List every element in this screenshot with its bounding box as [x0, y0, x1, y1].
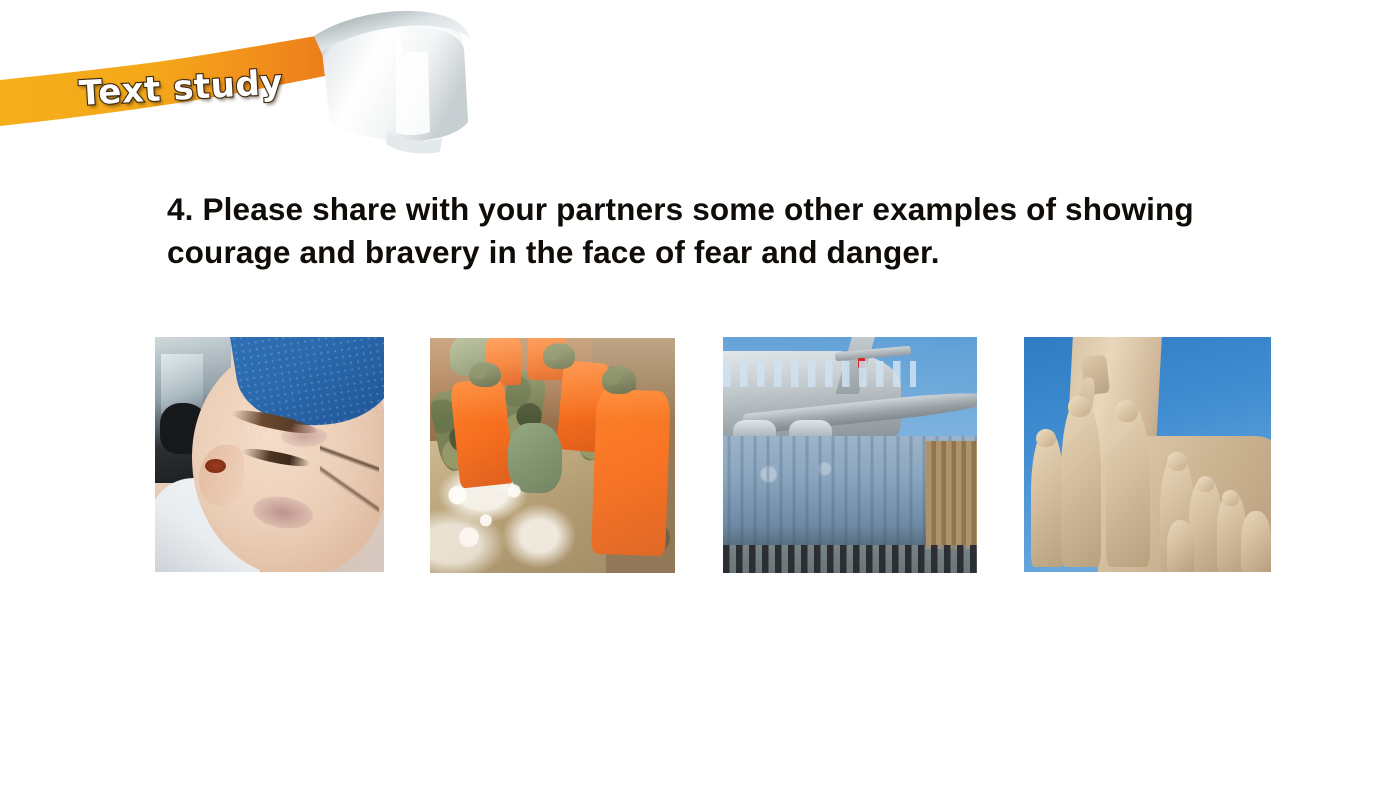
photo-injured-medical-worker[interactable]: Close-up of a medical worker's face mark… [155, 337, 384, 572]
photo-troops-scene [723, 337, 977, 573]
troops-face-masks [723, 361, 916, 387]
monument-head-6 [1222, 490, 1239, 506]
monument-figure-1 [1031, 431, 1063, 567]
photo-flood-rescue-soldiers[interactable]: Soldiers in camouflage uniforms and oran… [430, 338, 675, 573]
troops-khaki-column [926, 441, 977, 550]
scroll-roll-body [322, 27, 468, 141]
header-banner: Text study [0, 0, 500, 160]
monument-head-2 [1068, 396, 1090, 417]
question-block: 4. Please share with your partners some … [167, 188, 1297, 274]
photo-monument-scene [1024, 337, 1271, 572]
photo-flood-scene [430, 338, 675, 573]
monument-head-3 [1115, 400, 1137, 421]
monument-figure-3 [1106, 403, 1150, 568]
photo-troops-by-aircraft[interactable]: Rows of military medical personnel in bl… [723, 337, 977, 573]
monument-head-5 [1197, 476, 1214, 492]
photo-heroes-monument[interactable]: Heroic stone monument sculpture of soldi… [1024, 337, 1271, 572]
flood-warm-haze-overlay [430, 338, 675, 573]
question-text: 4. Please share with your partners some … [167, 188, 1297, 274]
medic-stray-hair [320, 408, 380, 526]
monument-figure-8 [1167, 520, 1194, 572]
photo-medic-scene [155, 337, 384, 572]
monument-figure-7 [1241, 511, 1271, 572]
monument-figure-2 [1061, 398, 1101, 567]
monument-head-1 [1036, 429, 1056, 448]
troops-boots-row [723, 545, 977, 573]
monument-head-4 [1167, 452, 1187, 471]
